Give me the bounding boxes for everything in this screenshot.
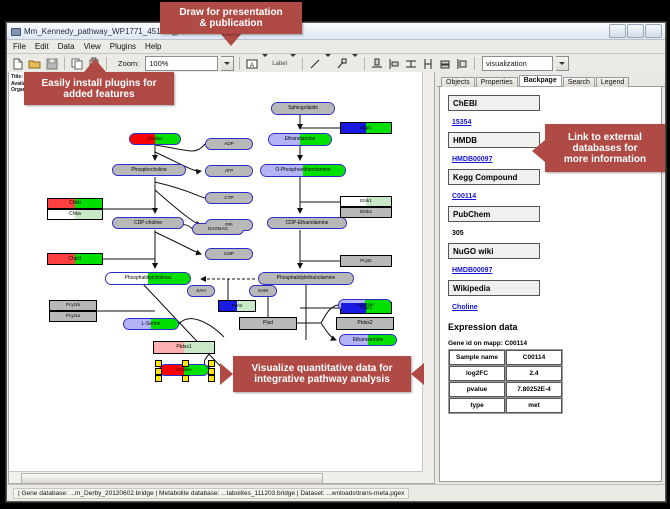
callout-draw: Draw for presentation & publication xyxy=(160,2,302,34)
metabolite-node-cdp-choline[interactable]: CDP-choline xyxy=(112,217,184,229)
metabolite-node-ethanolamine[interactable]: Ethanolamine xyxy=(268,133,332,146)
node-label: Cept1 xyxy=(360,306,372,311)
pathway-drawing-area[interactable]: Title: Availa Organi xyxy=(9,72,434,483)
field-kegg-label: Kegg Compound xyxy=(448,169,540,185)
node-label: Ethanolamine xyxy=(353,338,384,343)
gene-node-pemt[interactable]: Pemt xyxy=(218,300,256,312)
cell-value: 7.80252E-4 xyxy=(506,382,562,397)
cell-value: met xyxy=(506,398,562,413)
node-label: Chka xyxy=(69,212,81,217)
node-label: O-Phosphoethanolamine xyxy=(275,168,330,173)
selection-handle[interactable] xyxy=(208,368,215,375)
metabolite-node-l-serine-left[interactable]: L-Serine xyxy=(123,318,179,330)
metabolite-node-atp[interactable]: ATP xyxy=(205,165,253,177)
zoom-label: Zoom: xyxy=(118,59,139,68)
line-tool-icon[interactable] xyxy=(308,57,322,71)
gene-node-etnk1[interactable]: Etnk1 xyxy=(340,196,392,207)
metabolite-node-ctp[interactable]: CTP xyxy=(205,192,253,204)
table-row: type met xyxy=(449,398,562,413)
tab-legend[interactable]: Legend xyxy=(596,77,629,87)
node-label: Phosphocholine xyxy=(131,168,167,173)
callout-draw-text: Draw for presentation & publication xyxy=(179,7,282,29)
callout-plugins: Easily install plugins for added feature… xyxy=(24,72,174,105)
line-dropdown-icon[interactable] xyxy=(325,57,332,71)
close-button[interactable] xyxy=(645,24,662,38)
field-hmdb-value[interactable]: HMDB00097 xyxy=(452,156,492,163)
node-label: Pcyt2 xyxy=(360,259,372,264)
metabolite-node-sah[interactable]: SAH xyxy=(187,285,215,297)
side-panel-tabs[interactable]: Objects Properties Backpage Search Legen… xyxy=(437,72,665,87)
node-label: Phosphatidylethanolamine xyxy=(277,276,336,281)
copy-icon[interactable] xyxy=(70,57,84,71)
callout-draw-arrow-icon xyxy=(220,33,242,46)
cell-key: log2FC xyxy=(449,366,505,381)
tab-backpage[interactable]: Backpage xyxy=(519,75,562,86)
canvas-vertical-scrollbar[interactable] xyxy=(422,72,434,472)
field-nugowiki-label: NuGO wiki xyxy=(448,243,540,259)
field-kegg-value[interactable]: C00114 xyxy=(452,193,476,200)
selection-handle[interactable] xyxy=(155,360,162,367)
node-label: ADP xyxy=(224,142,233,147)
toolbar-separator xyxy=(106,57,107,70)
visualization-dropdown-arrow[interactable] xyxy=(556,56,569,71)
node-label: SAH xyxy=(196,289,205,294)
node-label: L-Serine xyxy=(142,322,161,327)
node-label: CTP xyxy=(224,196,233,201)
toolbar-separator xyxy=(64,57,65,70)
distribute-horizontal-icon[interactable] xyxy=(421,57,435,71)
field-chebi-label: ChEBI xyxy=(448,95,540,111)
node-label: DAGNAG xyxy=(208,227,228,232)
open-icon[interactable] xyxy=(28,57,42,71)
canvas-hscroll-thumb[interactable] xyxy=(21,473,323,484)
metabolite-node-sphingolipids[interactable]: Sphingolipids xyxy=(271,102,335,115)
node-label: ATP xyxy=(225,169,234,174)
menu-bar[interactable]: File Edit Data View Plugins Help xyxy=(7,40,665,54)
pathvisio-icon xyxy=(10,26,20,36)
node-label: Ptdss2 xyxy=(357,321,372,326)
gene-node-pcyt1b[interactable]: Pcyt1b xyxy=(49,300,97,311)
table-row: pvalue 7.80252E-4 xyxy=(449,382,562,397)
menu-item-file[interactable]: File xyxy=(13,42,26,51)
node-label: Choline xyxy=(147,137,163,142)
menu-item-data[interactable]: Data xyxy=(58,42,75,51)
table-row: Sample name C00114 xyxy=(449,350,562,365)
node-label: Pcyt1a xyxy=(66,314,80,319)
zoom-combobox-value[interactable]: 100% xyxy=(145,56,218,71)
selection-handle[interactable] xyxy=(208,360,215,367)
node-label: CMP xyxy=(224,252,234,257)
field-hmdb-label: HMDB xyxy=(448,132,540,148)
table-row: log2FC 2.4 xyxy=(449,366,562,381)
node-label: CDP-choline xyxy=(134,221,162,226)
gene-node-ptdss1[interactable]: Ptdss1 xyxy=(153,341,215,354)
screenshot-root: Mm_Kennedy_pathway_WP1771_45176.gpml Fil… xyxy=(0,0,670,509)
order-icon[interactable] xyxy=(455,57,469,71)
tab-objects[interactable]: Objects xyxy=(441,77,475,87)
cell-key: Sample name xyxy=(449,350,505,365)
metabolite-node-cdp-ethanolamine[interactable]: CDP-Ethanolamine xyxy=(267,217,347,229)
tab-search[interactable]: Search xyxy=(563,77,595,87)
metabolite-node-ethanolamine-right[interactable]: Ethanolamine xyxy=(339,334,397,346)
node-label: Ptdss1 xyxy=(176,345,191,350)
field-pubchem-value: 305 xyxy=(452,230,464,237)
field-wikipedia-value[interactable]: Choline xyxy=(452,304,478,311)
callout-plugins-text: Easily install plugins for added feature… xyxy=(41,78,156,100)
gene-node-pisd[interactable]: Pisd xyxy=(239,317,297,330)
node-label: Ethanolamine xyxy=(285,137,316,142)
maximize-button[interactable] xyxy=(627,24,644,38)
svg-text:A: A xyxy=(250,63,254,69)
label-tool-label[interactable]: Label xyxy=(272,61,287,67)
gene-node-chpt1[interactable]: Chpt1 xyxy=(47,253,103,265)
node-label: Chkb xyxy=(69,201,81,206)
node-label: Pisd xyxy=(263,321,273,326)
metabolite-node-sam[interactable]: SAM xyxy=(249,285,277,297)
minimize-button[interactable] xyxy=(609,24,626,38)
callout-links: Link to external databases for more info… xyxy=(545,124,665,172)
menu-item-plugins[interactable]: Plugins xyxy=(110,42,136,51)
toolbar-separator xyxy=(239,57,240,70)
label-dropdown-icon[interactable] xyxy=(290,57,297,71)
gene-node-pcyt1a[interactable]: Pcyt1a xyxy=(49,311,97,322)
interaction-tool-icon[interactable] xyxy=(335,57,349,71)
node-label: Chpt1 xyxy=(68,257,81,262)
datanode-icon[interactable]: A xyxy=(245,57,259,71)
callout-plugins-arrow-icon xyxy=(84,59,106,72)
metabolite-node-phosphatidylcholines[interactable]: Phosphatidylcholines xyxy=(105,272,191,285)
gene-node-etnk2[interactable]: Etnk2 xyxy=(340,207,392,218)
callout-links-arrow-icon xyxy=(532,140,545,162)
title-bar: Mm_Kennedy_pathway_WP1771_45176.gpml xyxy=(7,23,665,40)
gene-node-chka[interactable]: Chka xyxy=(47,209,103,220)
datanode-dropdown-icon[interactable] xyxy=(262,57,269,71)
field-wikipedia-label: Wikipedia xyxy=(448,280,540,296)
callout-links-text: Link to external databases for more info… xyxy=(564,132,646,165)
metabolite-node-dagnag[interactable]: DAGNAG xyxy=(192,223,244,235)
metabolite-node-phosphatidylethanolamine[interactable]: Phosphatidylethanolamine xyxy=(258,272,354,285)
cell-value: C00114 xyxy=(506,350,562,365)
field-chebi-value[interactable]: 15354 xyxy=(452,119,471,126)
stack-icon[interactable] xyxy=(438,57,452,71)
menu-item-view[interactable]: View xyxy=(84,42,101,51)
align-left-icon[interactable] xyxy=(387,57,401,71)
gene-node-sgpl1[interactable]: Sgpl1 xyxy=(340,122,392,134)
gene-node-ptdss2[interactable]: Ptdss2 xyxy=(336,317,394,330)
metabolite-node-o-phosphoethanolamine[interactable]: O-Phosphoethanolamine xyxy=(260,164,346,177)
expression-data-heading: Expression data xyxy=(448,322,661,332)
cell-key: type xyxy=(449,398,505,413)
callout-visualize: Visualize quantitative data for integrat… xyxy=(233,356,411,392)
metabolite-node-phosphocholine[interactable]: Phosphocholine xyxy=(112,164,186,176)
selection-handle[interactable] xyxy=(155,368,162,375)
gene-node-pcyt2[interactable]: Pcyt2 xyxy=(340,255,392,267)
canvas-horizontal-scrollbar[interactable] xyxy=(9,471,434,483)
node-label: CDP-Ethanolamine xyxy=(286,221,329,226)
metabolite-node-choline-top[interactable]: Choline xyxy=(129,133,181,145)
new-icon[interactable] xyxy=(11,57,25,71)
distribute-vertical-icon[interactable] xyxy=(404,57,418,71)
gene-id-on-mapp: Gene id on mapp: C00114 xyxy=(448,340,661,347)
field-nugowiki-value[interactable]: HMDB00097 xyxy=(452,267,492,274)
cell-value: 2.4 xyxy=(506,366,562,381)
save-icon[interactable] xyxy=(45,57,59,71)
interaction-dropdown-icon[interactable] xyxy=(352,57,359,71)
field-pubchem-label: PubChem xyxy=(448,206,540,222)
window-controls[interactable] xyxy=(609,24,662,38)
node-label: Sgpl1 xyxy=(360,126,372,131)
selection-handle[interactable] xyxy=(182,360,189,367)
callout-visualize-arrow-right-icon xyxy=(411,363,424,385)
gene-node-chkb[interactable]: Chkb xyxy=(47,198,103,209)
node-label: SAM xyxy=(258,289,268,294)
node-label: Pemt xyxy=(232,304,243,309)
callout-visualize-arrow-icon xyxy=(220,363,233,385)
node-label: Etnk2 xyxy=(360,210,372,215)
tab-properties[interactable]: Properties xyxy=(476,77,518,87)
zoom-dropdown-arrow[interactable] xyxy=(221,56,234,71)
expression-data-table: Sample name C00114 log2FC 2.4 pvalue 7.8… xyxy=(448,349,563,414)
pathway-canvas[interactable]: Title: Availa Organi xyxy=(8,72,435,484)
node-label: Etnk1 xyxy=(360,199,372,204)
selection-handle[interactable] xyxy=(182,375,189,382)
status-bar-text: | Gene database: ...m_Derby_20120602.bri… xyxy=(13,488,409,499)
toolbar-separator xyxy=(474,57,475,70)
node-label: Pcyt1b xyxy=(66,303,80,308)
node-label: Choline xyxy=(176,368,192,373)
node-label: Sphingolipids xyxy=(288,106,318,111)
node-label: Phosphatidylcholines xyxy=(125,276,172,281)
status-bar: | Gene database: ...m_Derby_20120602.bri… xyxy=(7,484,665,501)
selection-handle[interactable] xyxy=(155,375,162,382)
toolbar-separator xyxy=(302,57,303,70)
cell-key: pvalue xyxy=(449,382,505,397)
metabolite-node-adp[interactable]: ADP xyxy=(205,138,253,150)
toolbar-separator xyxy=(364,57,365,70)
selection-handle[interactable] xyxy=(208,375,215,382)
callout-visualize-text: Visualize quantitative data for integrat… xyxy=(252,363,393,385)
menu-item-help[interactable]: Help xyxy=(145,42,161,51)
align-bottom-icon[interactable] xyxy=(370,57,384,71)
menu-item-edit[interactable]: Edit xyxy=(35,42,49,51)
metabolite-node-cmp[interactable]: CMP xyxy=(205,248,253,260)
visualization-combobox-value[interactable]: visualization xyxy=(482,56,553,71)
